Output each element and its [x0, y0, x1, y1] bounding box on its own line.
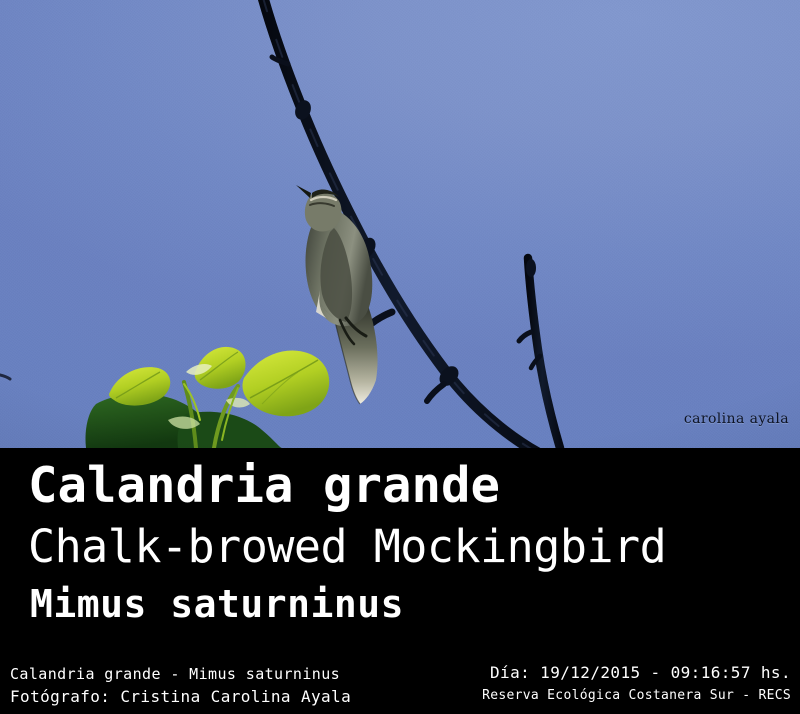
- footer-date-line: Día: 19/12/2015 - 09:16:57 hs.: [490, 663, 791, 682]
- footer-photographer-line: Fotógrafo: Cristina Carolina Ayala: [10, 687, 351, 706]
- common-name-english: Chalk-browed Mockingbird: [28, 523, 666, 571]
- scientific-name: Mimus saturninus: [30, 584, 404, 624]
- bird-photo-card: carolina ayala Calandria grande Chalk-br…: [0, 0, 800, 714]
- photographer-watermark: carolina ayala: [684, 411, 789, 427]
- footer-location-line: Reserva Ecológica Costanera Sur - RECS: [482, 688, 791, 703]
- footer-species-line: Calandria grande - Mimus saturninus: [10, 665, 340, 683]
- common-name-spanish: Calandria grande: [28, 461, 500, 511]
- photograph: carolina ayala: [0, 0, 800, 448]
- photo-vignette: [0, 0, 800, 448]
